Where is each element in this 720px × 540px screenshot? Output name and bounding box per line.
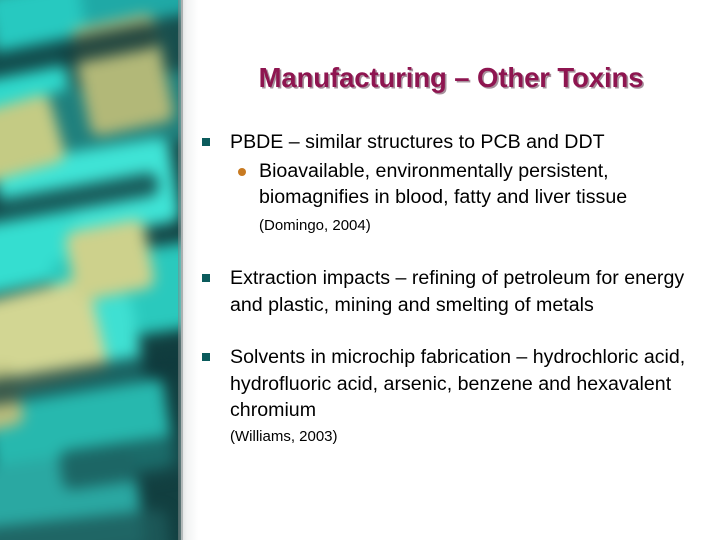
slide-title: Manufacturing – Other Toxins xyxy=(196,62,706,94)
bullet-square-icon xyxy=(202,274,210,282)
citation: (Domingo, 2004) xyxy=(259,217,371,234)
bullet-text: PBDE – similar structures to PCB and DDT xyxy=(230,131,605,153)
bullet-text: Solvents in microchip fabrication – hydr… xyxy=(230,346,685,421)
slide-body: PBDE – similar structures to PCB and DDT… xyxy=(200,129,700,447)
sub-bullet-list: Bioavailable, environmentally persistent… xyxy=(230,158,700,240)
bullet-square-icon xyxy=(202,353,210,361)
sub-bullet-text: Bioavailable, environmentally persistent… xyxy=(259,160,627,209)
photo-divider-line xyxy=(181,0,183,540)
bullet-item: Solvents in microchip fabrication – hydr… xyxy=(200,344,700,447)
bullet-square-icon xyxy=(202,138,210,146)
blurred-keyboard-keys-photo xyxy=(0,0,181,540)
bullet-text: Extraction impacts – refining of petrole… xyxy=(230,267,684,316)
bullet-dot-icon xyxy=(238,168,246,176)
citation: (Williams, 2003) xyxy=(230,426,700,447)
slide: Manufacturing – Other Toxins PBDE – simi… xyxy=(0,0,720,540)
photo-blur-layer xyxy=(0,0,181,540)
bullet-item: Extraction impacts – refining of petrole… xyxy=(200,265,700,318)
sub-bullet-item: Bioavailable, environmentally persistent… xyxy=(230,158,700,240)
bullet-item: PBDE – similar structures to PCB and DDT… xyxy=(200,129,700,239)
